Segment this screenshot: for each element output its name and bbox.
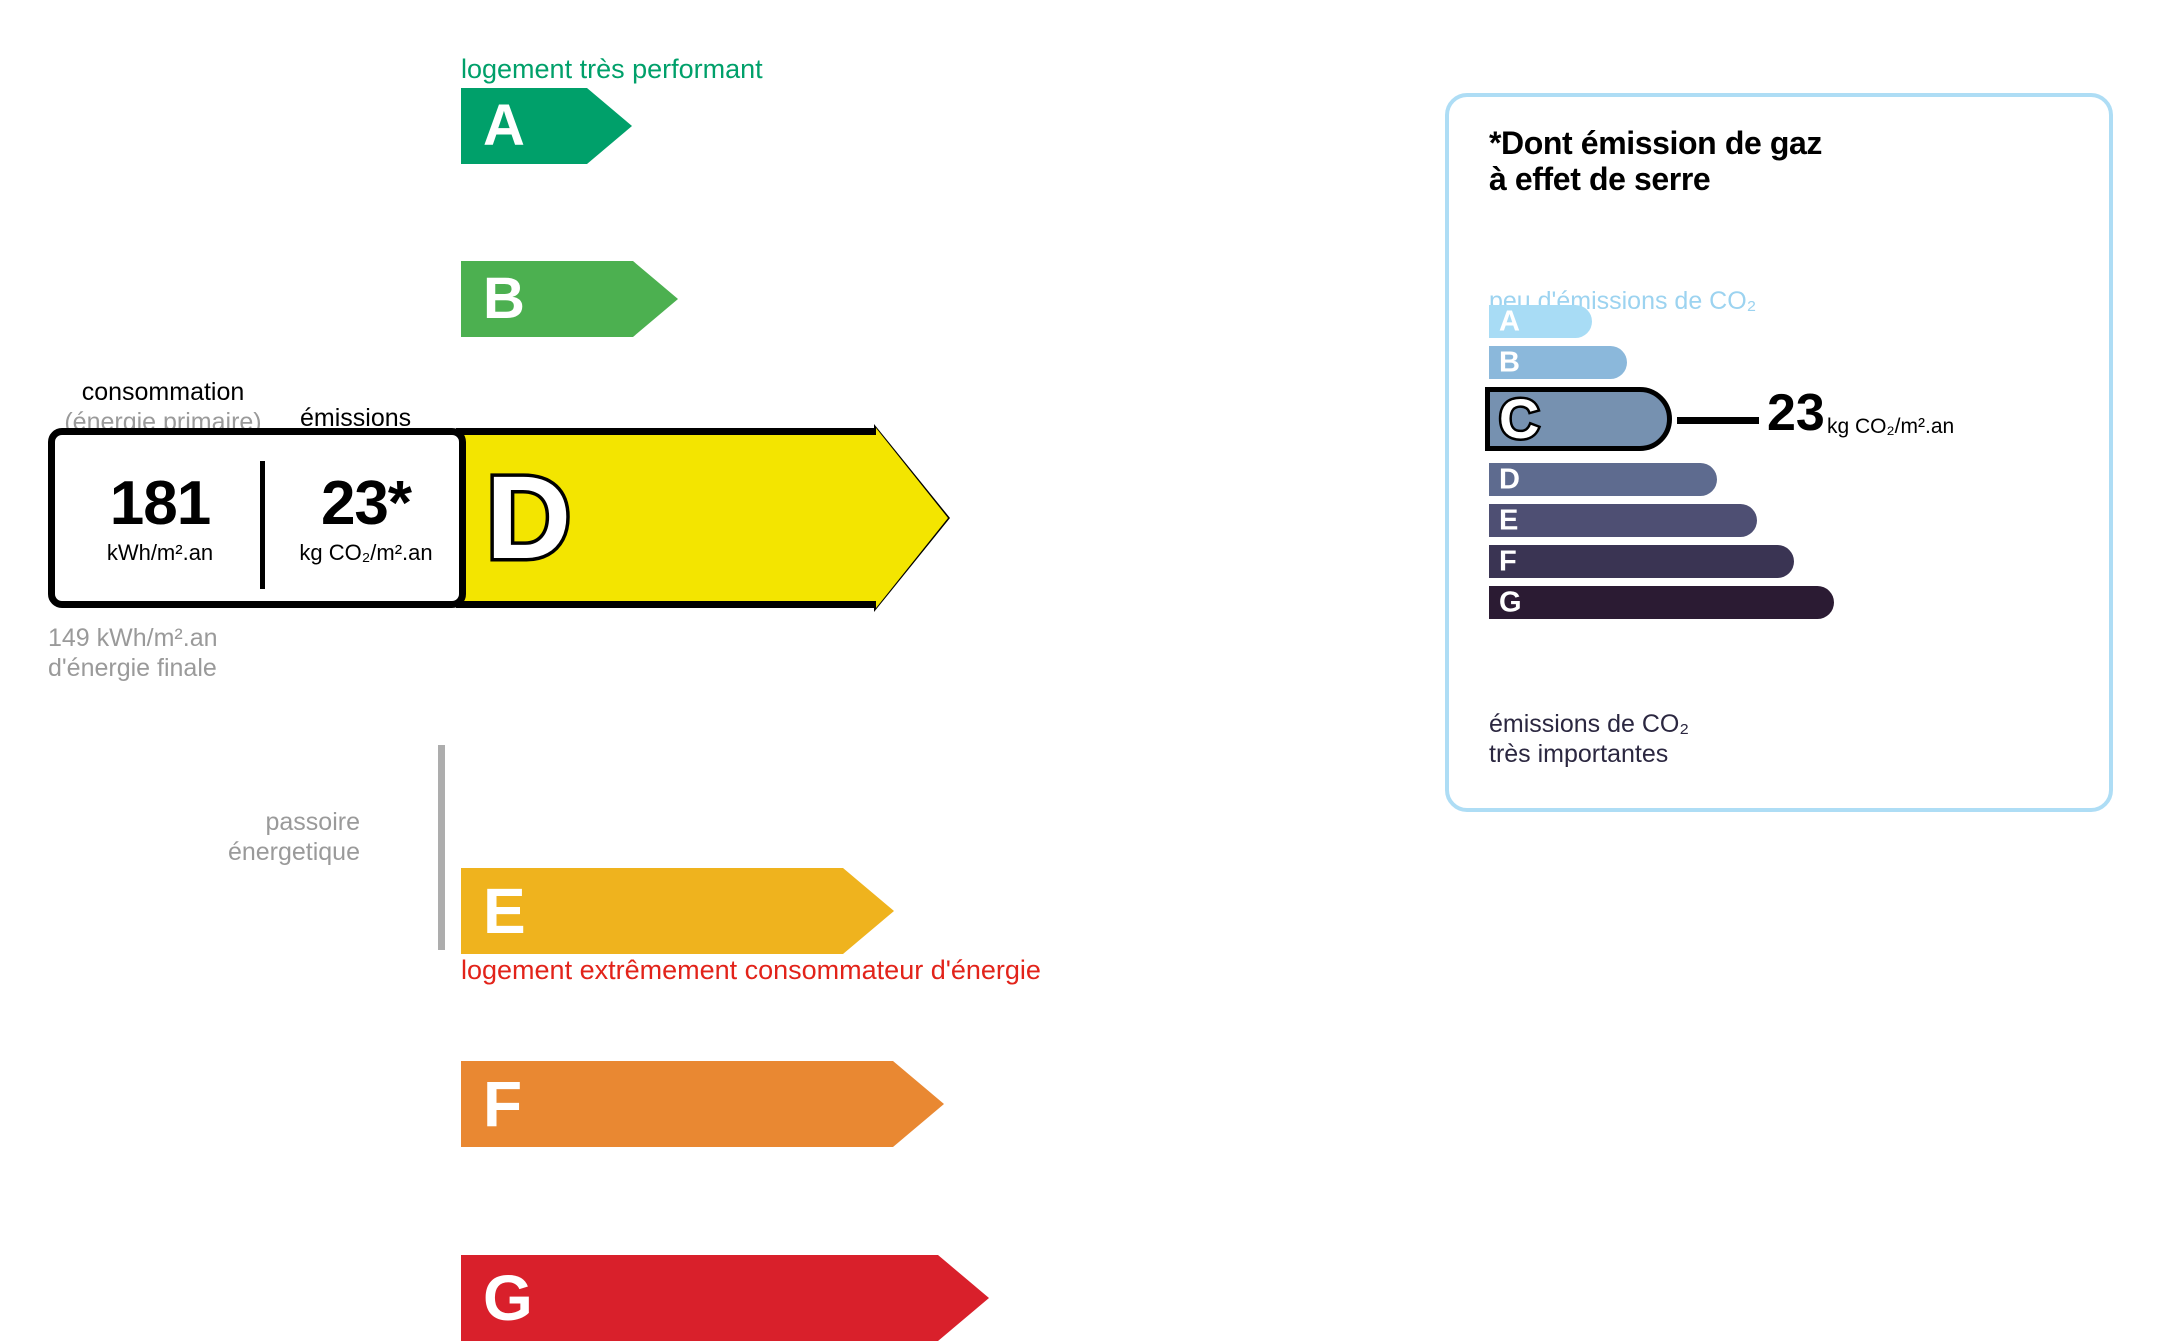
co2-bar-g-body (1489, 586, 1834, 619)
emissions-value-cell: 23* kg CO₂/m².an (267, 435, 465, 601)
energy-bar-f-body (461, 1061, 893, 1147)
energy-bar-b-letter: B (483, 270, 525, 328)
co2-leader-line (1677, 417, 1759, 424)
co2-bar-d-letter: D (1499, 465, 1520, 494)
co2-bar-a-letter: A (1499, 307, 1520, 336)
emissions-unit: kg CO₂/m².an (299, 542, 432, 564)
energy-bar-e[interactable]: E (461, 868, 1861, 954)
energy-bar-f-letter: F (483, 1072, 522, 1136)
co2-bar-g-letter: G (1499, 588, 1522, 617)
co2-panel-title: *Dont émission de gaz à effet de serre (1489, 125, 1822, 198)
energy-performance-chart: logement très performant A B C consommat… (0, 0, 1400, 1079)
energy-bar-e-letter: E (483, 879, 526, 943)
energy-top-caption: logement très performant (461, 54, 763, 85)
co2-bottom-line2: très importantes (1489, 739, 1689, 769)
consumption-value: 181 (110, 473, 210, 535)
co2-value: 23 (1767, 387, 1825, 439)
final-energy-line2: d'énergie finale (48, 654, 218, 684)
passoire-label: passoire énergetique (130, 808, 360, 867)
co2-bar-c-letter: C (1499, 391, 1539, 447)
energy-bottom-caption: logement extrêmement consommateur d'éner… (461, 955, 1041, 986)
co2-bar-b-letter: B (1499, 348, 1520, 377)
energy-bar-g-letter: G (483, 1266, 533, 1330)
co2-bar-e-body (1489, 504, 1757, 537)
energy-bar-e-tip (843, 868, 894, 954)
energy-bar-f[interactable]: F (461, 1061, 1861, 1147)
co2-title-line1: *Dont émission de gaz (1489, 125, 1822, 161)
emissions-value: 23* (321, 473, 411, 535)
energy-bar-a-letter: A (483, 97, 525, 155)
co2-bottom-caption: émissions de CO₂ très importantes (1489, 709, 1689, 769)
value-divider (260, 461, 265, 589)
energy-bar-d-tip (876, 428, 948, 608)
passoire-line2: énergetique (130, 838, 360, 868)
consumption-value-cell: 181 kWh/m².an (61, 435, 259, 601)
co2-title-line2: à effet de serre (1489, 161, 1822, 197)
energy-bar-g[interactable]: G (461, 1255, 1861, 1341)
co2-bar-e-letter: E (1499, 506, 1518, 535)
energy-bar-g-tip (938, 1255, 989, 1341)
energy-bar-a-tip (587, 88, 632, 164)
passoire-line1: passoire (130, 808, 360, 838)
energy-bar-f-tip (893, 1061, 944, 1147)
energy-bar-b-tip (633, 261, 678, 337)
co2-bar-f-letter: F (1499, 547, 1517, 576)
dpe-value-box: 181 kWh/m².an 23* kg CO₂/m².an (48, 428, 466, 608)
co2-value-unit: kg CO₂/m².an (1827, 415, 1954, 439)
passoire-rule (438, 745, 445, 950)
energy-bar-d-letter: D (486, 459, 571, 577)
final-energy-note: 149 kWh/m².an d'énergie finale (48, 624, 218, 683)
consumption-unit: kWh/m².an (107, 542, 213, 564)
consumption-label-line1: consommation (48, 378, 278, 408)
final-energy-line1: 149 kWh/m².an (48, 624, 218, 654)
co2-bar-f-body (1489, 545, 1794, 578)
co2-bar-d-body (1489, 463, 1717, 496)
co2-bottom-line1: émissions de CO₂ (1489, 709, 1689, 739)
co2-emissions-panel: *Dont émission de gaz à effet de serre p… (1445, 93, 2113, 812)
